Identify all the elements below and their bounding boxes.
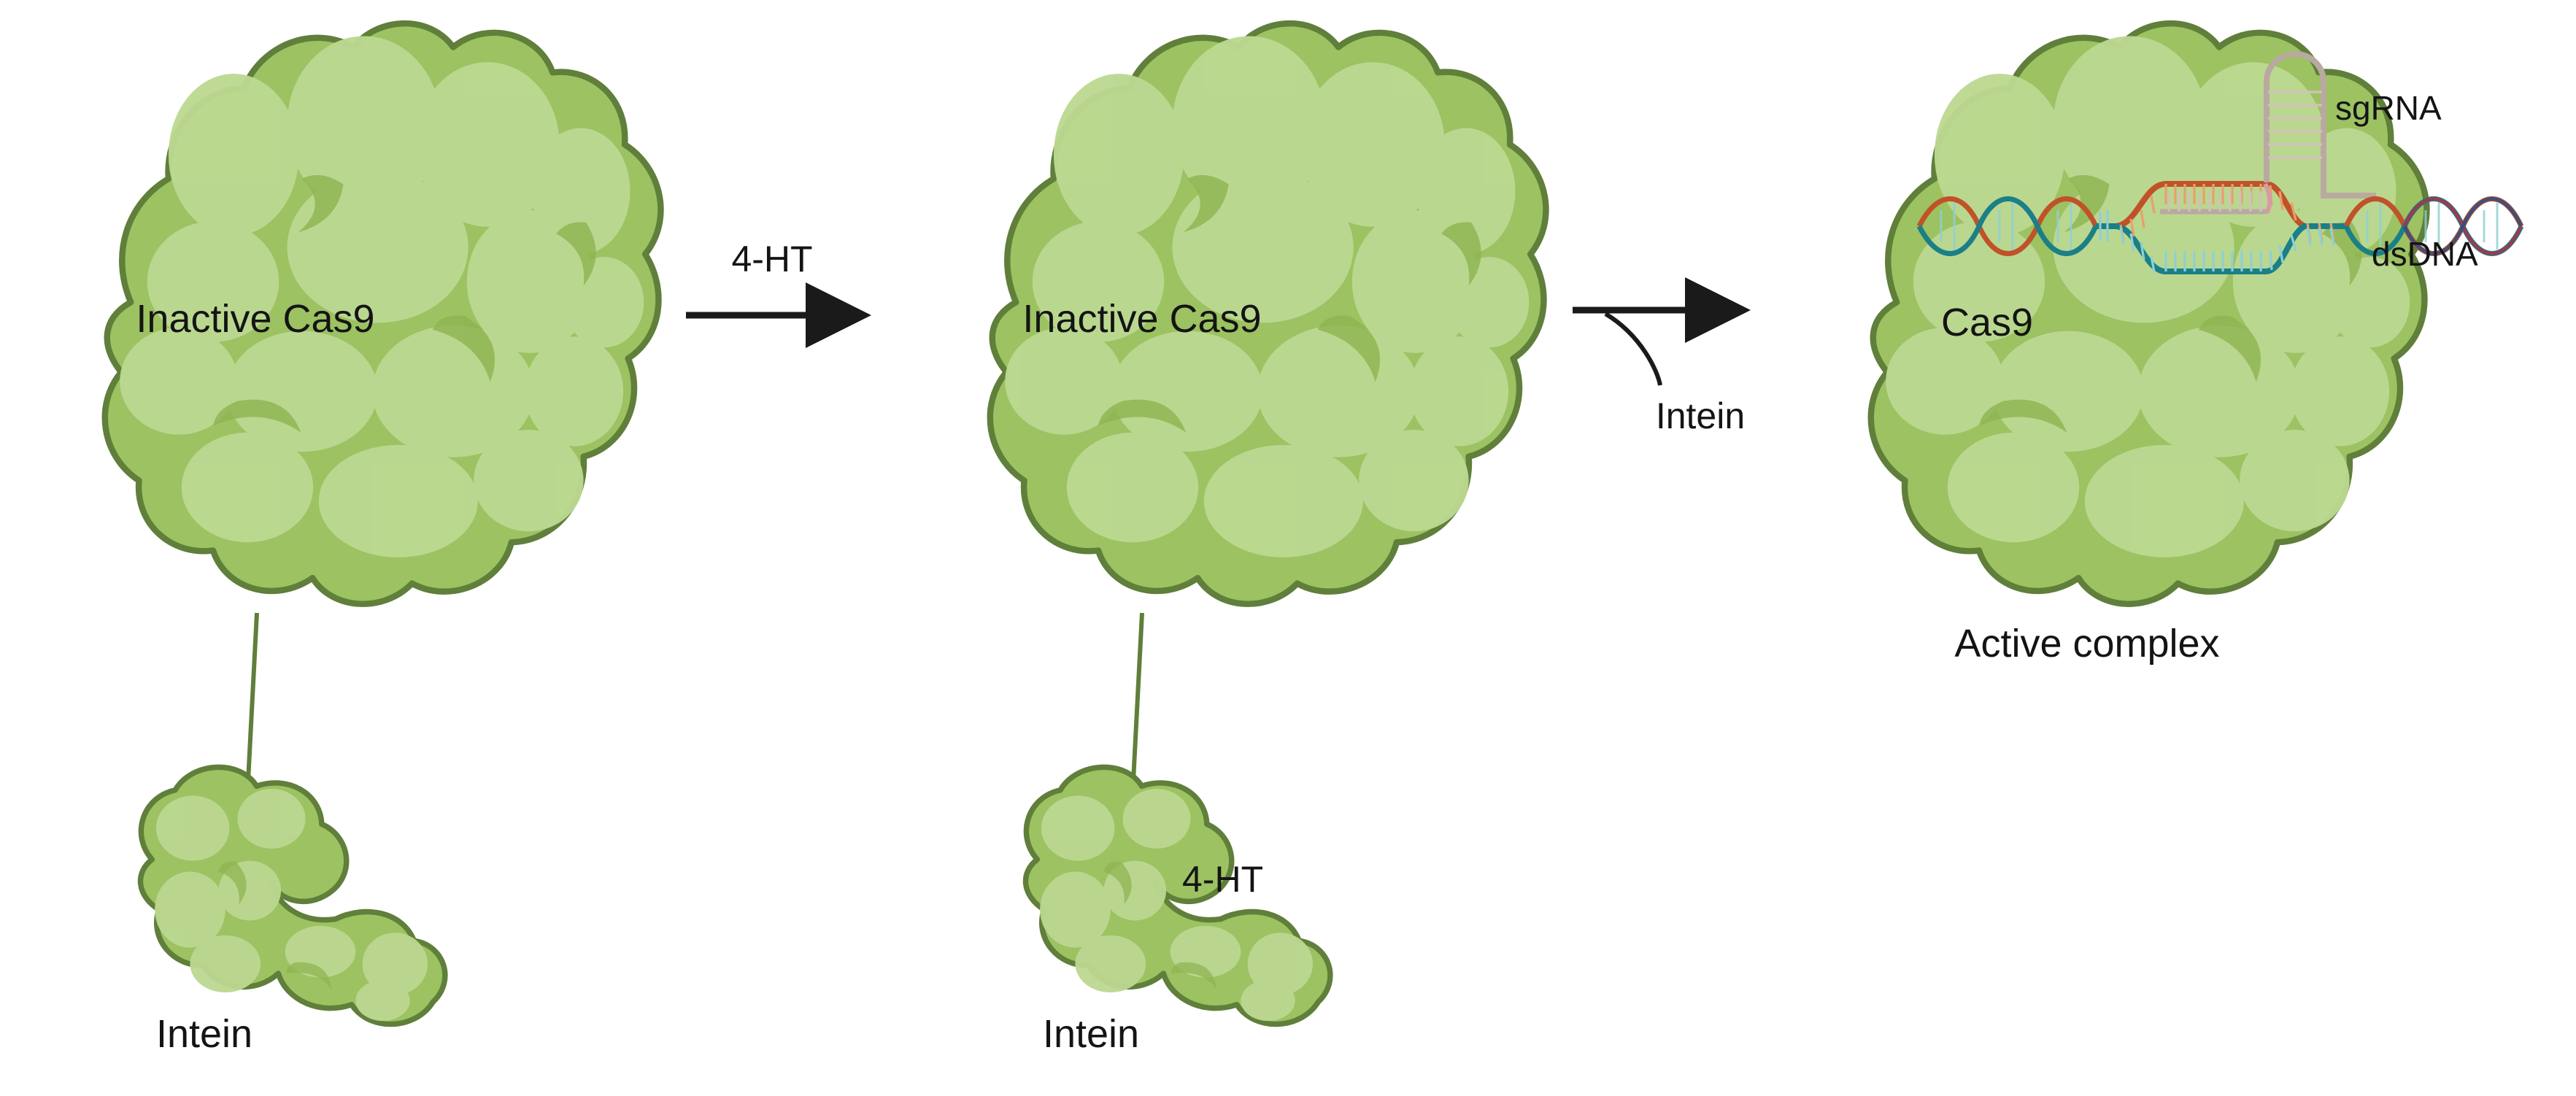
panel-2-group bbox=[990, 23, 1546, 1024]
intein-domain-2 bbox=[1025, 767, 1330, 1024]
panel-3-protein-label: Cas9 bbox=[1941, 303, 2033, 342]
panel-1-group bbox=[105, 23, 661, 1024]
diagram-canvas: Inactive Cas9 Intein 4-HT Inactive Cas9 … bbox=[0, 0, 2576, 1096]
arrow-branch-intein bbox=[1605, 314, 1660, 385]
panel-2-domain-label: Intein bbox=[1043, 1014, 1139, 1054]
sgrna-label: sgRNA bbox=[2335, 91, 2442, 125]
linker-line-1 bbox=[248, 613, 257, 781]
arrow-2-branch-label: Intein bbox=[1656, 398, 1745, 434]
panel-1-domain-label: Intein bbox=[156, 1014, 252, 1054]
linker-line-2 bbox=[1133, 613, 1142, 781]
dsdna-label: dsDNA bbox=[2372, 237, 2478, 271]
panel-2-ligand-label: 4-HT bbox=[1182, 861, 1263, 898]
intein-domain-1 bbox=[140, 767, 444, 1024]
arrow-1-label: 4-HT bbox=[731, 241, 812, 277]
panel-3-caption: Active complex bbox=[1954, 624, 2219, 663]
panel-1-protein-label: Inactive Cas9 bbox=[136, 299, 374, 339]
panel-2-protein-label: Inactive Cas9 bbox=[1022, 299, 1261, 339]
arrow-2-group bbox=[1573, 310, 1744, 385]
diagram-vector-layer bbox=[0, 0, 2576, 1096]
